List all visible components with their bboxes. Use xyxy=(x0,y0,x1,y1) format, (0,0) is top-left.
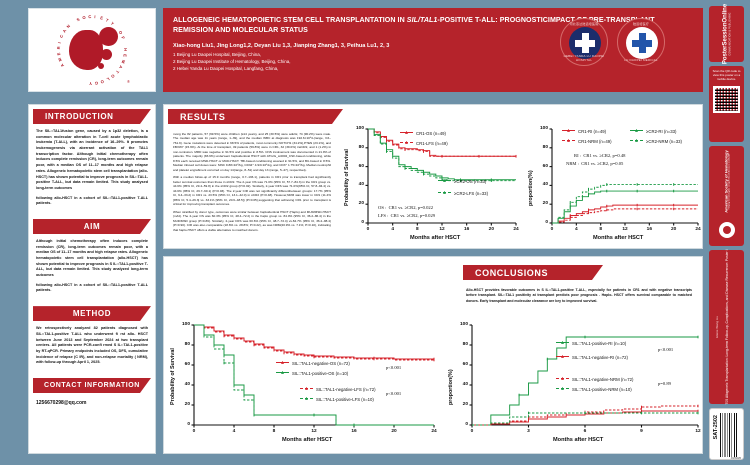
method-heading: METHOD xyxy=(33,306,151,321)
legend-swatch xyxy=(438,192,451,193)
legend-label: ≥CR2-RI (n=33) xyxy=(646,129,676,134)
legend-item: CR1-OS (n=49) xyxy=(400,131,446,136)
x-tick-label: 4 xyxy=(570,227,582,232)
chart-siltal1-survival: 02040608010004812162024Months after HSCT… xyxy=(168,319,438,447)
conclusions-section: CONCLUSIONS xyxy=(459,261,607,280)
results-paragraph-1: mong the 82 patients, 57 (69.5%) were ch… xyxy=(173,132,331,172)
legend-item: ≥CR2-LFS (n=33) xyxy=(438,191,488,196)
y-tick-label: 60 xyxy=(536,164,548,169)
x-tick-label: 20 xyxy=(388,429,400,434)
pvalue-annotation: p<0.001 xyxy=(658,347,673,354)
aim-section: AIM xyxy=(29,215,155,234)
hospital-logo-1-caption: HEBEI YANDA LU DAOPEI HOSPITAL xyxy=(561,54,607,62)
introduction-paragraph-1: The SIL::TAL1fusion gene, caused by a 1p… xyxy=(36,129,148,192)
y-tick-label: 100 xyxy=(456,322,468,327)
legend-item: SIL::TAL1-negative-LFS (n=72) xyxy=(300,387,376,392)
introduction-heading: INTRODUCTION xyxy=(33,109,151,124)
legend-label: SIL::TAL1-positive-RI (n=10) xyxy=(572,341,626,346)
hospital-logo-2-disc xyxy=(626,27,658,59)
qr-code-icon[interactable] xyxy=(713,86,740,113)
session-strip-sub: Elaine Wang Liu xyxy=(715,316,719,338)
legend-item: SIL::TAL1-negative-RI (n=72) xyxy=(556,355,628,360)
y-tick-label: 80 xyxy=(178,342,190,347)
y-tick-label: 80 xyxy=(536,145,548,150)
y-tick-label: 100 xyxy=(352,126,364,131)
contact-heading: CONTACT INFORMATION xyxy=(33,378,151,393)
legend-item: SIL::TAL1-positive-LFS (n=10) xyxy=(300,397,374,402)
ash-society-logo: AMERICAN SOCIETY OF HEMATOLOGY ® xyxy=(28,8,156,92)
legend-label: ≥CR2-LFS (n=33) xyxy=(454,191,488,196)
y-tick-label: 20 xyxy=(352,201,364,206)
registered-mark-icon: ® xyxy=(127,79,130,84)
author-names: Xiao-hong Liu1, Jing Long1,2, Deyan Liu … xyxy=(173,42,693,50)
results-paragraph-2: With a median follow-up of 15.9 months (… xyxy=(173,175,331,206)
ash-sidebar-sub: Helping hematologists conquer blood dise… xyxy=(728,150,730,212)
x-tick-label: 0 xyxy=(188,429,200,434)
ash-logo-dot-medium xyxy=(101,49,112,60)
author-list: Xiao-hong Liu1, Jing Long1,2, Deyan Liu … xyxy=(173,42,693,72)
conclusions-heading: CONCLUSIONS xyxy=(463,265,603,280)
x-tick-label: 9 xyxy=(636,429,648,434)
y-tick-label: 0 xyxy=(456,422,468,427)
chart-cr1-vs-cr2-survival: 02040608010004812162024Months after HSCT… xyxy=(342,123,520,245)
ash-logo-dot-large xyxy=(99,27,118,46)
conclusions-body: Allo-HSCT provides favorable outcomes in… xyxy=(459,283,699,308)
contact-email[interactable]: 1256670298@qq.com xyxy=(29,393,155,413)
x-tick-label: 16 xyxy=(348,429,360,434)
chart-cr1-vs-cr2-relapse-nrm: 02040608010004812162024Months after HSCT… xyxy=(526,123,702,245)
affiliation-1: 1 Beijing Lu Daopei Hospital, Beijing, C… xyxy=(173,51,693,58)
legend-swatch xyxy=(630,130,643,131)
x-tick-label: 12 xyxy=(308,429,320,434)
legend-label: SIL::TAL1-positive-OS (n=10) xyxy=(292,371,348,376)
legend-item: ≥CR2-NRM (n=33) xyxy=(630,139,682,144)
x-tick-label: 8 xyxy=(411,227,423,232)
legend-label: SIL::TAL1-negative-LFS (n=72) xyxy=(316,387,376,392)
x-axis-label: Months after HSCT xyxy=(593,235,643,241)
lu-daopei-medical-logo: 陆道培医疗 LU DAOPEI MEDICAL xyxy=(617,18,665,66)
x-tick-label: 24 xyxy=(428,429,440,434)
y-tick-label: 100 xyxy=(178,322,190,327)
y-tick-label: 80 xyxy=(352,145,364,150)
legend-item: ≥CR2-RI (n=33) xyxy=(630,129,676,134)
series-line xyxy=(552,184,698,223)
introduction-body: The SIL::TAL1fusion gene, caused by a 1p… xyxy=(29,124,155,215)
y-axis-label: proportion(%) xyxy=(528,170,534,206)
medical-cross-icon xyxy=(632,33,652,53)
legend-swatch xyxy=(300,398,313,399)
y-tick-label: 80 xyxy=(456,342,468,347)
session-strip-card: 705 Allogeneic Transplantation: Long-ter… xyxy=(709,250,744,404)
legend-item: SIL::TAL1-positive-NRM (n=10) xyxy=(556,387,632,392)
hebei-yanda-hospital-logo: 河北燕达陆道培医院 HEBEI YANDA LU DAOPEI HOSPITAL xyxy=(560,18,608,66)
legend-label: ≥CR2-NRM (n=33) xyxy=(646,139,682,144)
affiliation-2: 2 Beijing Lu Daopei Institute of Hematol… xyxy=(173,58,693,65)
pvalue-annotation: p=0.89 xyxy=(658,381,671,388)
x-tick-label: 12 xyxy=(436,227,448,232)
aim-body: Although initial chemotherapy often indu… xyxy=(29,234,155,302)
poster-session-online-sub: COMMUNICATION & PUBLISHING xyxy=(728,4,731,64)
legend-swatch xyxy=(438,180,451,181)
legend-swatch xyxy=(400,142,413,143)
y-tick-label: 60 xyxy=(178,362,190,367)
ash-logo-mark: AMERICAN SOCIETY OF HEMATOLOGY ® xyxy=(52,10,132,90)
x-tick-label: 24 xyxy=(510,227,522,232)
x-tick-label: 0 xyxy=(466,429,478,434)
legend-label: ≥CR2-OS (n=33) xyxy=(454,179,486,184)
poster-session-online-card[interactable]: PosterSessionOnline COMMUNICATION & PUBL… xyxy=(709,6,744,62)
x-tick-label: 0 xyxy=(362,227,374,232)
aim-heading: AIM xyxy=(33,219,151,234)
pvalue-annotation: p<0.001 xyxy=(386,391,401,398)
aim-paragraph-2: following allo-HSCT in a cohort of SIL::… xyxy=(36,283,148,294)
x-tick-label: 8 xyxy=(268,429,280,434)
results-body: mong the 82 patients, 57 (69.5%) were ch… xyxy=(166,127,338,239)
legend-swatch xyxy=(556,342,569,343)
results-panel: RESULTS mong the 82 patients, 57 (69.5%)… xyxy=(163,104,703,249)
x-tick-label: 4 xyxy=(228,429,240,434)
right-sidebar: PosterSessionOnline COMMUNICATION & PUBL… xyxy=(703,0,750,465)
legend-item: CR1-RI (n=49) xyxy=(562,129,606,134)
legend-swatch xyxy=(556,356,569,357)
pvalue-annotation: NRM : CR1 vs. ≥CR2, p=0.05 xyxy=(566,161,623,168)
legend-swatch xyxy=(300,388,313,389)
poster-canvas: AMERICAN SOCIETY OF HEMATOLOGY ® ALLOGEN… xyxy=(0,0,750,465)
aim-paragraph-1: Although initial chemotherapy often indu… xyxy=(36,239,148,279)
chart-siltal-survival-svg xyxy=(168,319,438,447)
legend-label: SIL::TAL1-negative-NRM (n=72) xyxy=(572,377,633,382)
pvalue-annotation: p<0.001 xyxy=(386,365,401,372)
legend-swatch xyxy=(400,132,413,133)
x-tick-label: 16 xyxy=(461,227,473,232)
x-tick-label: 20 xyxy=(668,227,680,232)
legend-label: SIL::TAL1-positive-LFS (n=10) xyxy=(316,397,374,402)
legend-swatch xyxy=(276,372,289,373)
method-section: METHOD xyxy=(29,302,155,321)
poster-session-online-label: PosterSessionOnline COMMUNICATION & PUBL… xyxy=(722,4,731,64)
legend-item: SIL::TAL1-negative-OS (n=72) xyxy=(276,361,350,366)
pvalue-annotation: OS : CR1 vs. ≥CR2, p=0.022 xyxy=(378,205,433,212)
legend-label: SIL::TAL1-negative-OS (n=72) xyxy=(292,361,350,366)
y-tick-label: 100 xyxy=(536,126,548,131)
x-tick-label: 0 xyxy=(546,227,558,232)
pvalue-annotation: LFS : CR1 vs. ≥CR2, p=0.029 xyxy=(378,213,435,220)
medical-cross-icon xyxy=(575,33,595,53)
legend-swatch xyxy=(276,362,289,363)
x-tick-label: 12 xyxy=(619,227,631,232)
series-line xyxy=(368,129,516,180)
y-tick-label: 0 xyxy=(178,422,190,427)
page-title: ALLOGENEIC HEMATOPOIETIC STEM CELL TRANS… xyxy=(173,16,693,35)
legend-item: ≥CR2-OS (n=33) xyxy=(438,179,486,184)
left-column-panel: INTRODUCTION The SIL::TAL1fusion gene, c… xyxy=(28,104,156,454)
y-tick-label: 0 xyxy=(536,220,548,225)
y-tick-label: 60 xyxy=(456,362,468,367)
barcode-icon xyxy=(720,413,738,457)
legend-swatch xyxy=(562,140,575,141)
hospital-logo-1-cn-text: 河北燕达陆道培医院 xyxy=(561,22,607,26)
poster-id-label: SAT-2502 xyxy=(713,415,719,439)
pvalue-annotation: RI : CR1 vs. ≥CR2, p=0.48 xyxy=(574,153,625,160)
series-line xyxy=(472,406,698,425)
x-axis-label: Months after HSCT xyxy=(410,235,460,241)
introduction-section: INTRODUCTION xyxy=(29,105,155,124)
legend-label: CR1-OS (n=49) xyxy=(416,131,446,136)
legend-item: SIL::TAL1-positive-OS (n=10) xyxy=(276,371,348,376)
hospital-logo-2-cn-text: 陆道培医疗 xyxy=(618,22,664,26)
y-tick-label: 20 xyxy=(178,402,190,407)
x-tick-label: 4 xyxy=(387,227,399,232)
legend-item: CR1-LFS (n=49) xyxy=(400,141,448,146)
legend-label: CR1-LFS (n=49) xyxy=(416,141,448,146)
x-axis-label: Months after HSCT xyxy=(553,437,603,443)
chart-siltal1-relapse-nrm: 020406080100036912Months after HSCTpropo… xyxy=(446,319,702,447)
y-tick-label: 60 xyxy=(352,164,364,169)
legend-swatch xyxy=(562,130,575,131)
legend-label: SIL::TAL1-negative-RI (n=72) xyxy=(572,355,628,360)
y-tick-label: 40 xyxy=(178,382,190,387)
introduction-paragraph-2: following allo-HSCT in a cohort of SIL::… xyxy=(36,196,148,207)
x-tick-label: 3 xyxy=(523,429,535,434)
x-axis-label: Months after HSCT xyxy=(282,437,332,443)
qr-instruction-text: Scan the QR code to view this poster on … xyxy=(709,66,744,84)
legend-label: SIL::TAL1-positive-NRM (n=10) xyxy=(572,387,632,392)
ash-sidebar-card: American Society of Hematology Helping h… xyxy=(709,146,744,246)
legend-label: CR1-NRM (n=49) xyxy=(578,139,612,144)
series-line xyxy=(552,205,698,223)
hospital-logo-2-caption: LU DAOPEI MEDICAL xyxy=(618,58,664,62)
legend-item: CR1-NRM (n=49) xyxy=(562,139,612,144)
legend-item: SIL::TAL1-positive-RI (n=10) xyxy=(556,341,626,346)
y-tick-label: 20 xyxy=(536,201,548,206)
results-heading: RESULTS xyxy=(168,109,343,124)
method-body: We retrospectively analyzed 82 patients … xyxy=(29,321,155,374)
y-tick-label: 40 xyxy=(456,382,468,387)
series-line xyxy=(194,325,434,359)
x-tick-label: 16 xyxy=(643,227,655,232)
barcode-card: SAT-2502 ASH2025 xyxy=(709,408,744,460)
y-axis-label: Probability of Survival xyxy=(170,348,176,405)
legend-item: SIL::TAL1-negative-NRM (n=72) xyxy=(556,377,633,382)
x-tick-label: 20 xyxy=(485,227,497,232)
legend-swatch xyxy=(630,140,643,141)
session-strip-label: 705 Allogeneic Transplantation: Long-ter… xyxy=(725,249,729,404)
y-tick-label: 40 xyxy=(352,182,364,187)
ash-sidebar-label: American Society of Hematology Helping h… xyxy=(723,150,730,212)
qr-code-card[interactable]: Scan the QR code to view this poster on … xyxy=(709,66,744,142)
y-axis-label: Probability of Survival xyxy=(344,149,350,206)
method-paragraph-1: We retrospectively analyzed 82 patients … xyxy=(36,326,148,366)
y-axis-label: proportion(%) xyxy=(448,369,454,405)
barcode-number: ASH2025 xyxy=(731,457,741,460)
legend-swatch xyxy=(556,388,569,389)
results-section: RESULTS xyxy=(164,105,702,124)
y-tick-label: 0 xyxy=(352,220,364,225)
conclusions-panel: CONCLUSIONS Allo-HSCT provides favorable… xyxy=(163,256,703,454)
y-tick-label: 20 xyxy=(456,402,468,407)
results-paragraph-3: When stratified by donor type, outcomes … xyxy=(173,210,331,232)
poster-header: AMERICAN SOCIETY OF HEMATOLOGY ® ALLOGEN… xyxy=(0,0,711,96)
x-tick-label: 6 xyxy=(579,429,591,434)
legend-swatch xyxy=(556,378,569,379)
contact-section: CONTACT INFORMATION xyxy=(29,374,155,393)
affiliation-3: 2 Hebei Yanda Lu Daopei Hospital, Langfa… xyxy=(173,65,693,72)
y-tick-label: 40 xyxy=(536,182,548,187)
legend-label: CR1-RI (n=49) xyxy=(578,129,606,134)
ash-logo-dot-small xyxy=(98,63,104,69)
x-tick-label: 8 xyxy=(595,227,607,232)
ash-sidebar-logo-icon xyxy=(719,222,735,238)
series-line xyxy=(552,191,698,223)
series-line xyxy=(368,129,516,181)
